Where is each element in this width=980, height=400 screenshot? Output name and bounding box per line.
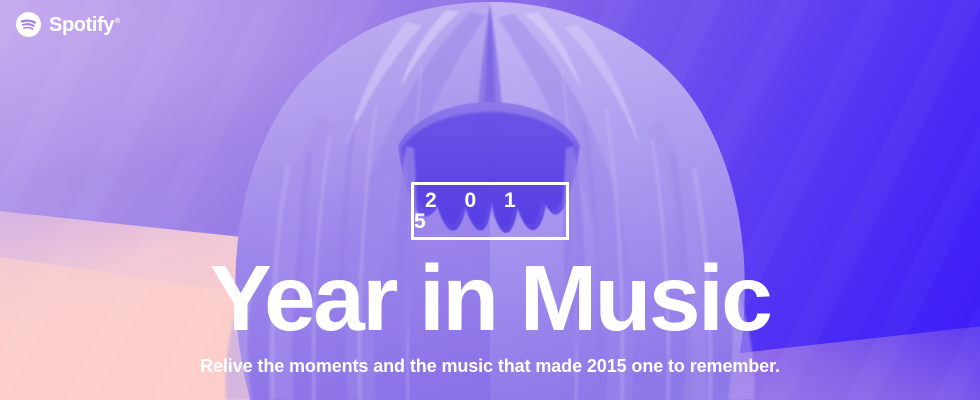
spotify-logo[interactable]: Spotify® xyxy=(16,12,120,37)
year-badge-label: 2 0 1 5 xyxy=(414,190,566,232)
year-badge: 2 0 1 5 xyxy=(411,182,569,240)
page-title: Year in Music xyxy=(210,252,771,345)
spotify-logo-icon xyxy=(16,12,41,37)
page-subtitle: Relive the moments and the music that ma… xyxy=(200,357,780,375)
trademark-symbol: ® xyxy=(115,18,120,25)
spotify-wordmark: Spotify® xyxy=(49,15,120,35)
year-in-music-hero: Spotify® 2 0 1 5 Year in Music Relive th… xyxy=(0,0,980,400)
